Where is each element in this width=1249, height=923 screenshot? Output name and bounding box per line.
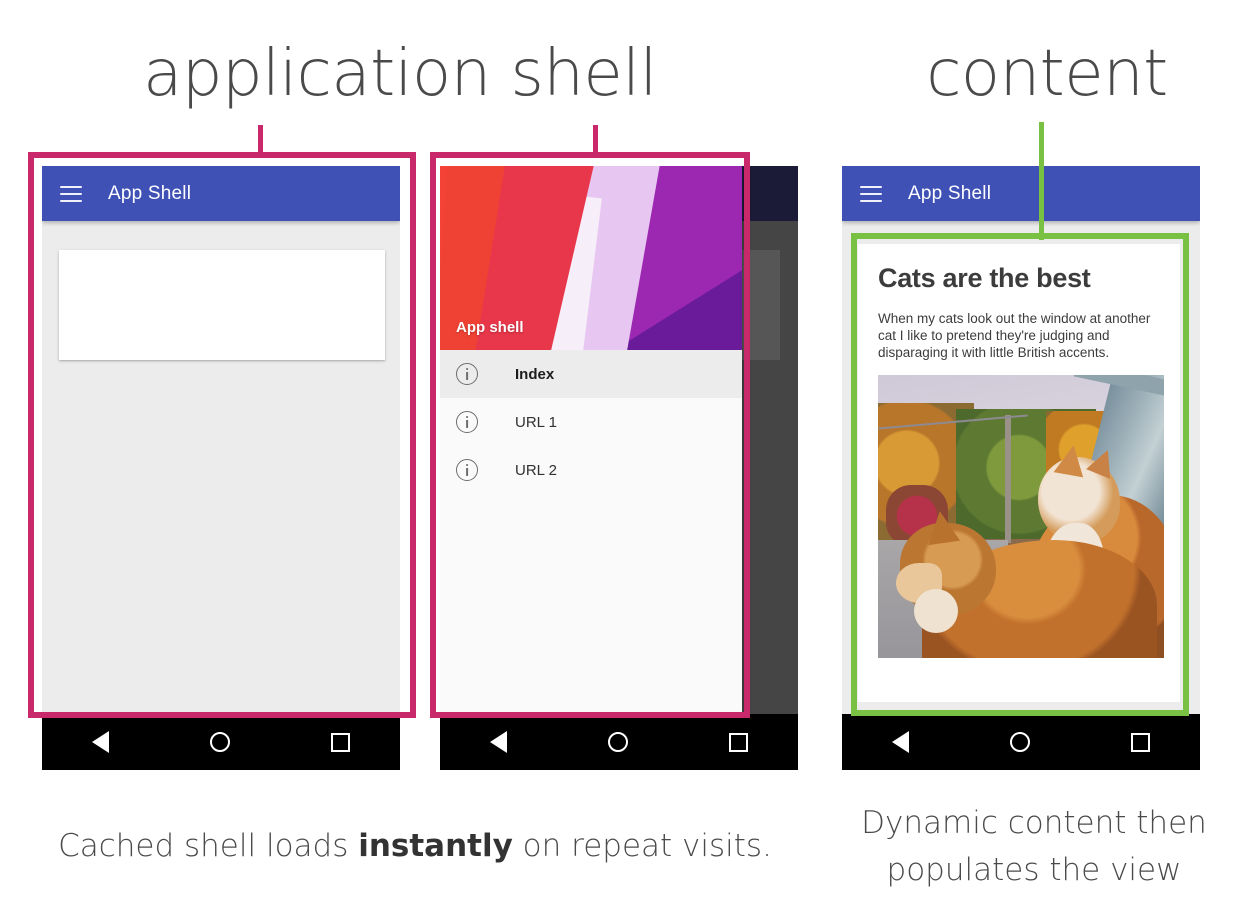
hamburger-menu-icon[interactable] xyxy=(60,186,82,202)
leader-line-shell-left xyxy=(258,125,263,157)
caption-right-line2: populates the view xyxy=(828,847,1240,894)
photo-cat-back-ear xyxy=(1054,443,1089,478)
app-bar: App Shell xyxy=(42,166,400,221)
photo-utility-pole xyxy=(1005,415,1011,543)
back-triangle-icon[interactable] xyxy=(92,731,109,753)
cat-photo xyxy=(878,375,1164,658)
home-circle-icon[interactable] xyxy=(1010,732,1030,752)
caption-left-suffix: on repeat visits. xyxy=(513,828,772,864)
recents-square-icon[interactable] xyxy=(331,733,350,752)
article-content: Cats are the best When my cats look out … xyxy=(858,244,1180,702)
navigation-drawer: App shell Index URL 1 URL 2 xyxy=(440,166,742,714)
info-circle-icon xyxy=(456,411,478,433)
drawer-hero-image: App shell xyxy=(440,166,742,350)
article-body: When my cats look out the window at anot… xyxy=(878,310,1160,361)
caption-cached-shell: Cached shell loads instantly on repeat v… xyxy=(10,825,820,867)
diagram-canvas: application shell content App Shell xyxy=(0,0,1249,923)
drawer-item-label: URL 2 xyxy=(515,462,557,479)
back-triangle-icon[interactable] xyxy=(892,731,909,753)
android-nav-bar xyxy=(842,714,1200,770)
android-nav-bar xyxy=(440,714,798,770)
phone-mockup-drawer-open: App shell Index URL 1 URL 2 xyxy=(440,166,798,770)
back-triangle-icon[interactable] xyxy=(490,731,507,753)
phone1-screen: App Shell xyxy=(42,166,400,714)
annotation-title-content: content xyxy=(845,36,1249,112)
caption-left-prefix: Cached shell loads xyxy=(58,828,358,864)
phone-mockup-empty-shell: App Shell xyxy=(42,166,400,770)
phone2-screen: App shell Index URL 1 URL 2 xyxy=(440,166,798,714)
caption-right-line1: Dynamic content then xyxy=(828,800,1240,847)
photo-cat-front-chest xyxy=(914,589,958,633)
annotation-title-application-shell: application shell xyxy=(0,36,800,112)
empty-content-card xyxy=(59,250,385,360)
photo-cat-front-ear xyxy=(924,509,960,545)
article-heading: Cats are the best xyxy=(878,262,1160,294)
leader-line-content xyxy=(1039,122,1044,240)
home-circle-icon[interactable] xyxy=(210,732,230,752)
hamburger-menu-icon[interactable] xyxy=(860,186,882,202)
drawer-item-index[interactable]: Index xyxy=(440,350,742,398)
drawer-item-label: Index xyxy=(515,366,554,383)
drawer-item-label: URL 1 xyxy=(515,414,557,431)
app-bar-title: App Shell xyxy=(108,183,191,205)
info-circle-icon xyxy=(456,363,478,385)
app-bar: App Shell xyxy=(842,166,1200,221)
home-circle-icon[interactable] xyxy=(608,732,628,752)
drawer-item-url-1[interactable]: URL 1 xyxy=(440,398,742,446)
app-bar-title: App Shell xyxy=(908,183,991,205)
leader-line-shell-right xyxy=(593,125,598,157)
hero-label: App shell xyxy=(456,319,524,336)
phone-mockup-with-content: App Shell Cats are the best When my cats… xyxy=(842,166,1200,770)
caption-dynamic-content: Dynamic content then populates the view xyxy=(828,800,1240,894)
caption-left-bold: instantly xyxy=(358,828,513,864)
phone3-screen: App Shell Cats are the best When my cats… xyxy=(842,166,1200,714)
recents-square-icon[interactable] xyxy=(729,733,748,752)
drawer-item-url-2[interactable]: URL 2 xyxy=(440,446,742,494)
drawer-item-list: Index URL 1 URL 2 xyxy=(440,350,742,494)
recents-square-icon[interactable] xyxy=(1131,733,1150,752)
info-circle-icon xyxy=(456,459,478,481)
android-nav-bar xyxy=(42,714,400,770)
